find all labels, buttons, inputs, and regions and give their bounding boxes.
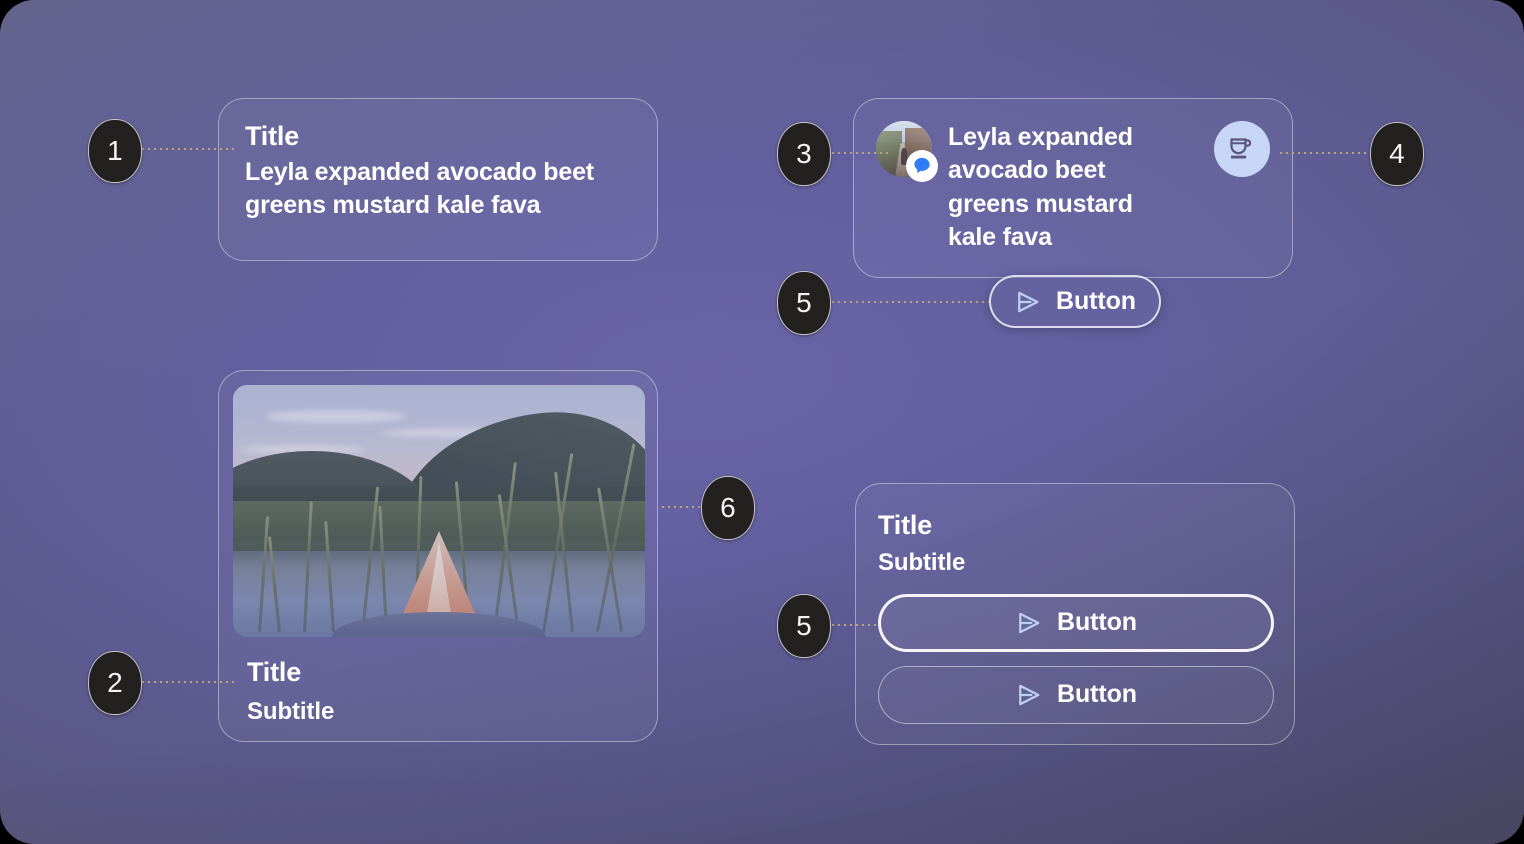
action-card-button-primary-label: Button (1057, 608, 1137, 637)
media-card-thumbnail[interactable] (233, 385, 645, 637)
message-card-avatar[interactable] (876, 121, 932, 177)
message-card-button[interactable]: Button (989, 275, 1161, 328)
badge-5-message[interactable]: 5 (777, 271, 831, 335)
connector-5-bottom (830, 624, 880, 626)
badge-1[interactable]: 1 (88, 119, 142, 183)
text-card[interactable]: Title Leyla expanded avocado beet greens… (218, 98, 658, 261)
media-card-caption: Title Subtitle (233, 637, 643, 727)
message-card-row: Leyla expanded avocado beet greens musta… (876, 119, 1270, 254)
connector-2 (140, 681, 234, 683)
action-card-title: Title (878, 510, 1272, 541)
chat-bubble-icon (906, 150, 938, 182)
action-card-button-secondary-label: Button (1057, 680, 1137, 709)
connector-6 (660, 506, 702, 508)
connector-3 (830, 152, 892, 154)
message-card[interactable]: Leyla expanded avocado beet greens musta… (853, 98, 1293, 278)
text-card-title: Title (245, 121, 631, 152)
badge-3[interactable]: 3 (777, 122, 831, 186)
coffee-cup-icon (1227, 134, 1257, 164)
action-card-button-primary[interactable]: Button (878, 594, 1274, 652)
send-icon (1014, 288, 1042, 316)
media-card[interactable]: Title Subtitle (218, 370, 658, 742)
badge-2[interactable]: 2 (88, 651, 142, 715)
badge-6[interactable]: 6 (701, 476, 755, 540)
message-card-round-icon[interactable] (1214, 121, 1270, 177)
send-icon (1015, 609, 1043, 637)
media-card-title: Title (247, 657, 629, 688)
connector-1 (140, 148, 234, 150)
text-card-body: Leyla expanded avocado beet greens musta… (245, 156, 631, 222)
badge-4[interactable]: 4 (1370, 122, 1424, 186)
action-card[interactable]: Title Subtitle Button Button (855, 483, 1295, 745)
connector-4 (1278, 152, 1370, 154)
action-card-button-secondary[interactable]: Button (878, 666, 1274, 724)
badge-5-action[interactable]: 5 (777, 594, 831, 658)
action-card-subtitle: Subtitle (878, 549, 1272, 578)
message-card-text: Leyla expanded avocado beet greens musta… (948, 119, 1178, 254)
media-card-subtitle: Subtitle (247, 698, 629, 727)
send-icon (1015, 681, 1043, 709)
message-card-button-label: Button (1056, 287, 1136, 316)
design-canvas: 1 2 3 4 5 5 6 Title Leyla expanded avoca… (0, 0, 1524, 844)
connector-5-top (830, 301, 992, 303)
